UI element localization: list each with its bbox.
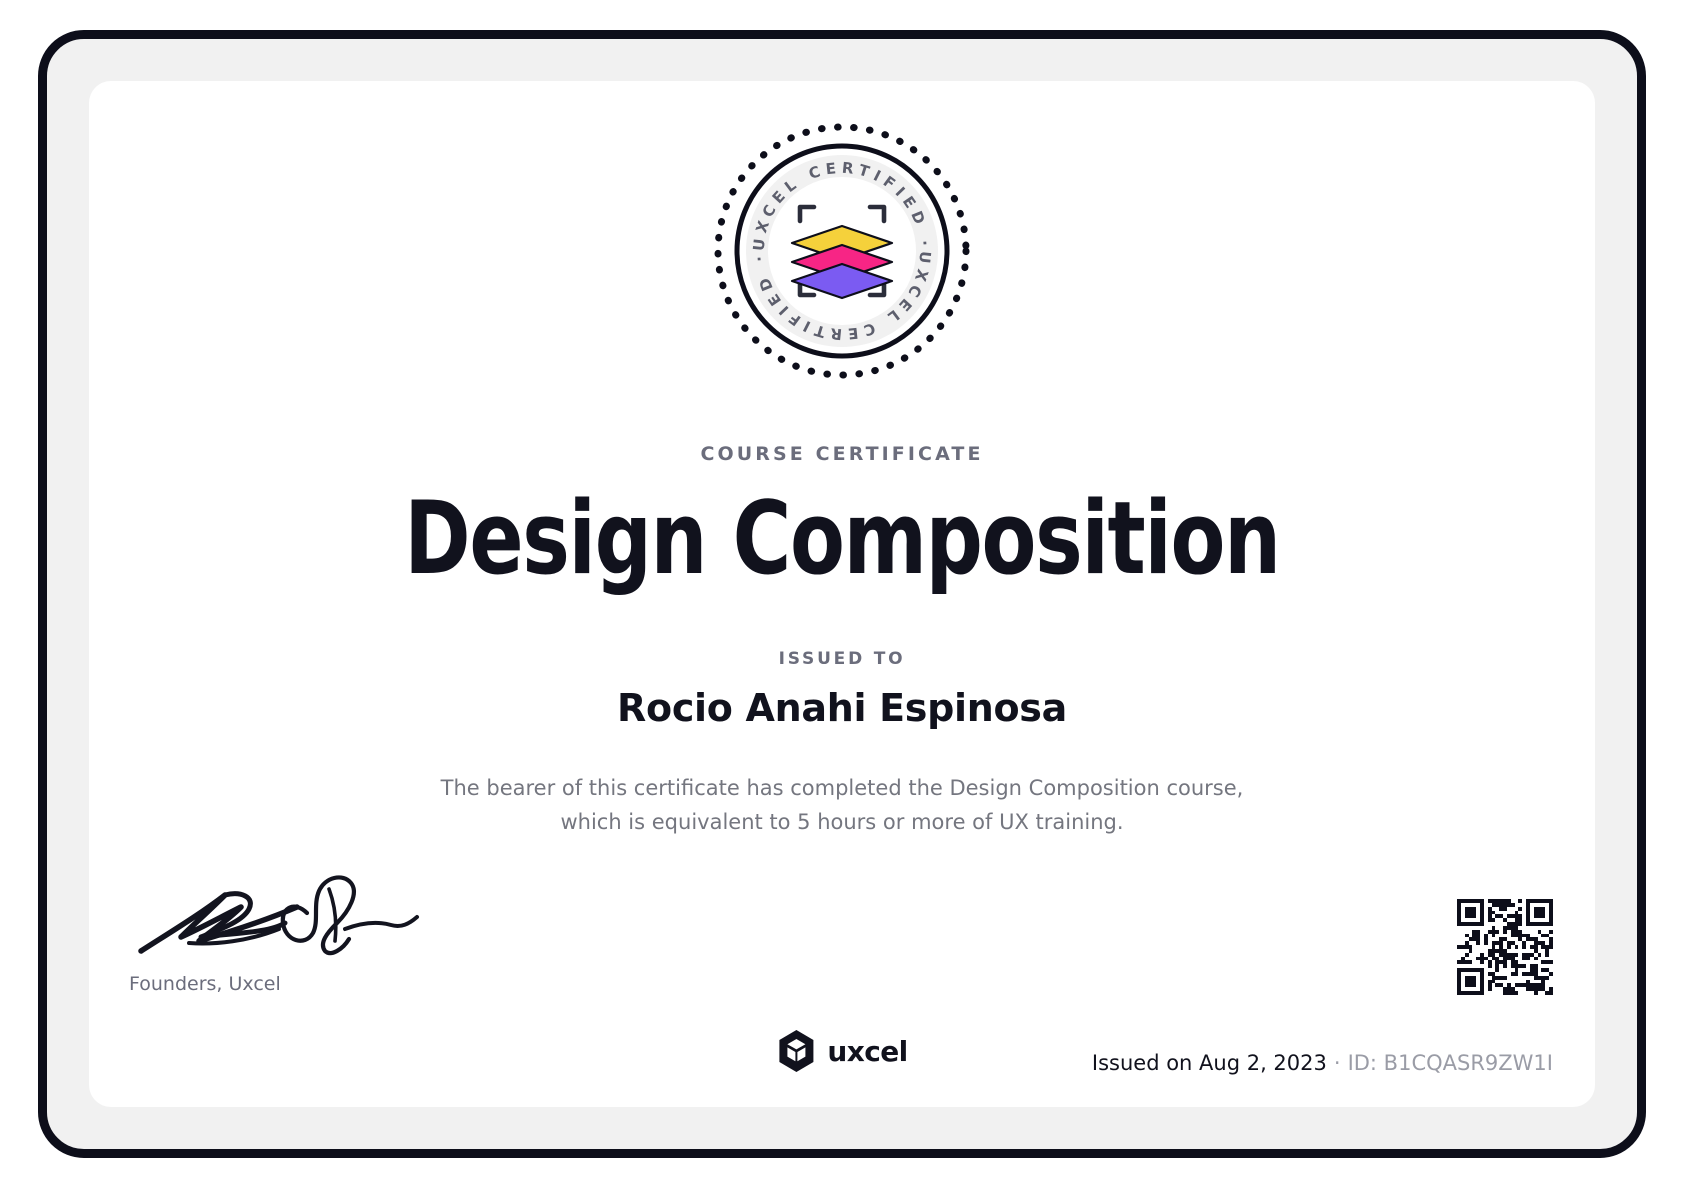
certificate-frame: UXCEL CERTIFIED · UXCEL CERTIFIED · [38, 30, 1646, 1158]
signature-block: Founders, Uxcel [129, 871, 549, 995]
issued-on-text: Issued on Aug 2, 2023 [1092, 1051, 1327, 1075]
uxcel-logo: uxcel [776, 1029, 907, 1073]
verification-qr-code[interactable] [1457, 899, 1553, 995]
certificate-meta: Issued on Aug 2, 2023·ID: B1CQASR9ZW1I [1092, 1051, 1553, 1075]
issued-to-label: ISSUED TO [89, 649, 1595, 669]
signature-caption: Founders, Uxcel [129, 973, 549, 995]
certificate-card: UXCEL CERTIFIED · UXCEL CERTIFIED · [89, 81, 1595, 1107]
seal-graphic: UXCEL CERTIFIED · UXCEL CERTIFIED · [708, 117, 976, 385]
certified-seal: UXCEL CERTIFIED · UXCEL CERTIFIED · [708, 117, 976, 385]
course-title: Design Composition [179, 486, 1504, 591]
signature-icon [129, 871, 429, 963]
certificate-description: The bearer of this certificate has compl… [412, 771, 1272, 839]
seal-layers-icon [792, 226, 892, 298]
recipient-name: Rocio Anahi Espinosa [89, 686, 1595, 730]
uxcel-hexagon-icon [776, 1029, 816, 1073]
meta-separator: · [1334, 1051, 1341, 1075]
certificate-id: ID: B1CQASR9ZW1I [1348, 1051, 1553, 1075]
certificate-kicker: COURSE CERTIFICATE [89, 443, 1595, 465]
uxcel-wordmark: uxcel [827, 1035, 907, 1068]
